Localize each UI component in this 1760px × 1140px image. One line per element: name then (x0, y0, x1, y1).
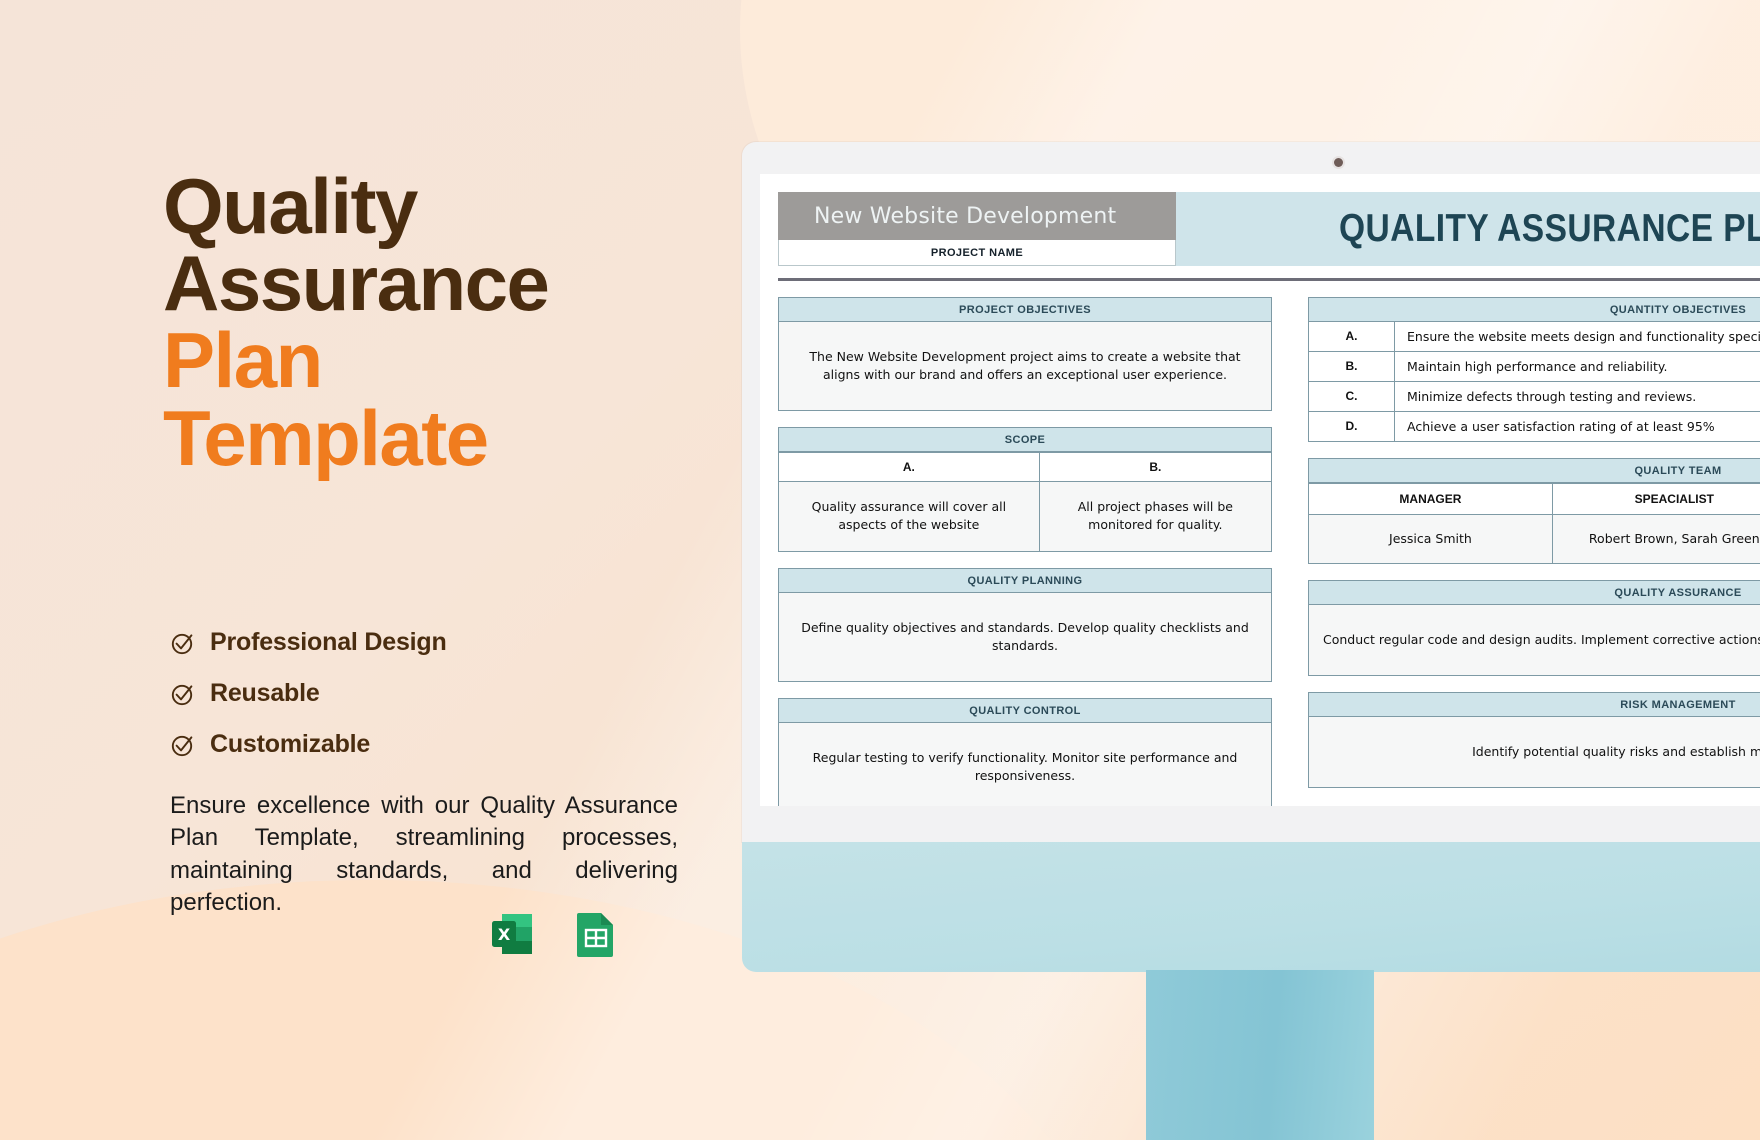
item-key: B. (1309, 352, 1395, 381)
column-header: SPEACIALIST (1552, 484, 1760, 515)
spreadsheet-document: New Website Development PROJECT NAME QUA… (760, 174, 1760, 806)
promo-description: Ensure excellence with our Quality Assur… (170, 790, 678, 920)
monitor-chin (742, 842, 1760, 972)
column-header: B. (1039, 453, 1271, 482)
header-divider (778, 278, 1760, 281)
project-name-block: New Website Development PROJECT NAME (778, 192, 1176, 266)
list-item: Customizable (170, 730, 447, 759)
page-title: Quality Assurance Plan Template (163, 168, 683, 477)
list-item: C. Minimize defects through testing and … (1309, 382, 1760, 412)
item-value[interactable]: Minimize defects through testing and rev… (1395, 382, 1760, 411)
webcam-dot-icon (1334, 158, 1343, 167)
google-sheets-file-icon[interactable] (570, 908, 622, 960)
section-header: QUALITY ASSURANCE (1309, 581, 1760, 605)
section-project-objectives: PROJECT OBJECTIVES The New Website Devel… (778, 297, 1272, 411)
section-header: QUANTITY OBJECTIVES (1309, 298, 1760, 322)
table-cell[interactable]: All project phases will be monitored for… (1039, 482, 1271, 551)
section-header: QUALITY CONTROL (779, 699, 1271, 723)
column-header: A. (779, 453, 1040, 482)
section-header: SCOPE (778, 427, 1272, 452)
check-circle-icon (170, 732, 196, 758)
section-scope: SCOPE A. B. Quality assurance will cover… (778, 427, 1272, 551)
table-header-row: MANAGER SPEACIALIST PROJECT TEAM (1309, 484, 1760, 515)
scope-table: A. B. Quality assurance will cover all a… (778, 452, 1272, 551)
section-body[interactable]: Identify potential quality risks and est… (1309, 717, 1760, 787)
monitor-screen: New Website Development PROJECT NAME QUA… (760, 174, 1760, 806)
section-header: RISK MANAGEMENT (1309, 693, 1760, 717)
item-key: A. (1309, 322, 1395, 351)
table-cell[interactable]: Quality assurance will cover all aspects… (779, 482, 1040, 551)
monitor-bezel: New Website Development PROJECT NAME QUA… (742, 142, 1760, 842)
section-quality-control: QUALITY CONTROL Regular testing to verif… (778, 698, 1272, 806)
feature-label: Reusable (210, 679, 320, 708)
quality-team-table: MANAGER SPEACIALIST PROJECT TEAM Jessica… (1308, 483, 1760, 564)
section-header: PROJECT OBJECTIVES (779, 298, 1271, 322)
section-risk-management: RISK MANAGEMENT Identify potential quali… (1308, 692, 1760, 788)
table-row: Jessica Smith Robert Brown, Sarah Green … (1309, 515, 1760, 564)
headline-line-1: Quality (163, 168, 683, 245)
section-header: QUALITY TEAM (1308, 458, 1760, 483)
list-item: D. Achieve a user satisfaction rating of… (1309, 412, 1760, 441)
table-cell[interactable]: Robert Brown, Sarah Green (1552, 515, 1760, 564)
headline-line-2: Assurance (163, 245, 683, 322)
feature-label: Professional Design (210, 628, 447, 657)
list-item: B. Maintain high performance and reliabi… (1309, 352, 1760, 382)
promo-panel: Quality Assurance Plan Template Professi… (0, 0, 700, 1140)
list-item: A. Ensure the website meets design and f… (1309, 322, 1760, 352)
project-name-value[interactable]: New Website Development (778, 192, 1176, 240)
table-header-row: A. B. (779, 453, 1272, 482)
document-header: New Website Development PROJECT NAME QUA… (778, 192, 1760, 266)
section-quality-assurance: QUALITY ASSURANCE Conduct regular code a… (1308, 580, 1760, 676)
item-key: C. (1309, 382, 1395, 411)
item-key: D. (1309, 412, 1395, 441)
section-header: QUALITY PLANNING (779, 569, 1271, 593)
feature-label: Customizable (210, 730, 370, 759)
excel-file-icon[interactable]: X (488, 908, 540, 960)
section-body[interactable]: Conduct regular code and design audits. … (1309, 605, 1760, 675)
headline-line-3: Plan (163, 322, 683, 399)
section-body[interactable]: Regular testing to verify functionality.… (779, 723, 1271, 806)
section-quality-team: QUALITY TEAM MANAGER SPEACIALIST PROJECT… (1308, 458, 1760, 564)
headline-line-4: Template (163, 400, 683, 477)
item-value[interactable]: Maintain high performance and reliabilit… (1395, 352, 1760, 381)
column-header: MANAGER (1309, 484, 1553, 515)
check-circle-icon (170, 630, 196, 656)
section-body[interactable]: Define quality objectives and standards.… (779, 593, 1271, 681)
monitor-stand-neck (1146, 970, 1374, 1140)
section-body[interactable]: The New Website Development project aims… (779, 322, 1271, 410)
document-left-column: PROJECT OBJECTIVES The New Website Devel… (778, 297, 1272, 806)
table-cell[interactable]: Jessica Smith (1309, 515, 1553, 564)
list-item: Reusable (170, 679, 447, 708)
check-circle-icon (170, 681, 196, 707)
item-value[interactable]: Ensure the website meets design and func… (1395, 322, 1760, 351)
document-title: QUALITY ASSURANCE PLAN (1176, 192, 1760, 266)
svg-text:X: X (498, 925, 511, 944)
item-value[interactable]: Achieve a user satisfaction rating of at… (1395, 412, 1760, 441)
file-type-list: X (488, 908, 622, 960)
document-right-column: QUANTITY OBJECTIVES A. Ensure the websit… (1308, 297, 1760, 806)
project-name-label: PROJECT NAME (778, 240, 1176, 266)
list-item: Professional Design (170, 628, 447, 657)
feature-list: Professional Design Reusable Customizabl… (170, 628, 447, 781)
table-row: Quality assurance will cover all aspects… (779, 482, 1272, 551)
section-quantity-objectives: QUANTITY OBJECTIVES A. Ensure the websit… (1308, 297, 1760, 442)
section-quality-planning: QUALITY PLANNING Define quality objectiv… (778, 568, 1272, 682)
